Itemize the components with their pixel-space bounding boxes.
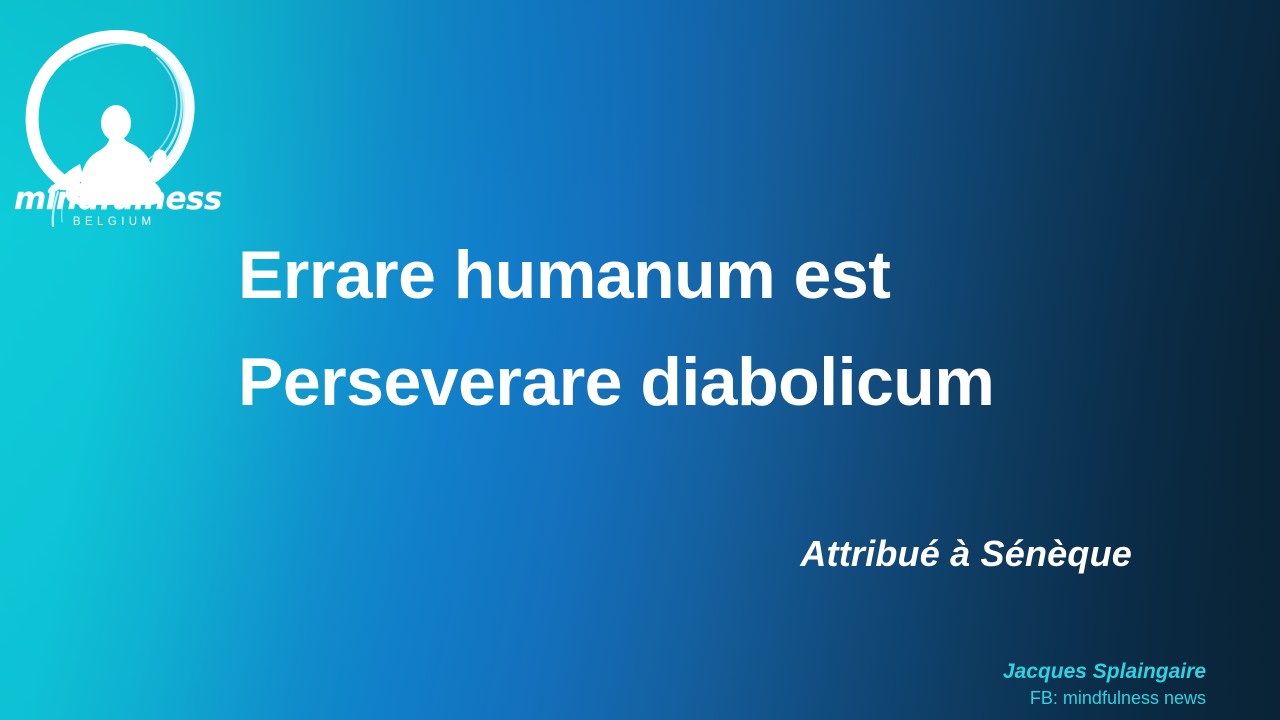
logo-wordmark: mindfulness: [14, 184, 210, 215]
credits-social-handle: FB: mindfulness news: [1003, 686, 1206, 710]
mindfulness-belgium-logo: mindfulness BELGIUM: [14, 16, 210, 228]
credits-block: Jacques Splaingaire FB: mindfulness news: [1003, 658, 1206, 710]
presentation-slide: mindfulness BELGIUM Errare humanum est P…: [0, 0, 1280, 720]
credits-author: Jacques Splaingaire: [1003, 658, 1206, 686]
slide-title-line-1: Errare humanum est: [238, 222, 1138, 329]
slide-title: Errare humanum est Perseverare diabolicu…: [238, 222, 1138, 436]
quote-attribution: Attribué à Sénèque: [800, 533, 1132, 575]
slide-title-line-2: Perseverare diabolicum: [238, 329, 1138, 436]
logo-subtitle: BELGIUM: [14, 217, 210, 229]
